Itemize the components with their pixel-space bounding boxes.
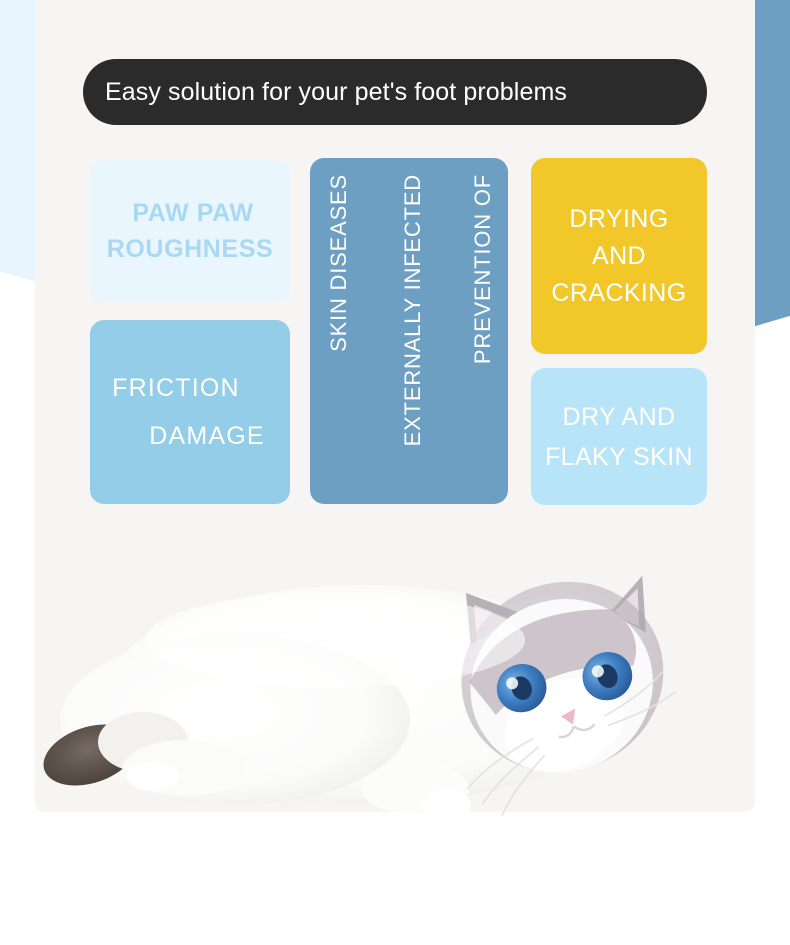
feature-tile-drying-and-cracking: DRYING AND CRACKING bbox=[531, 158, 707, 354]
cat-illustration bbox=[35, 520, 755, 840]
tile-line-vertical: PREVENTION OF bbox=[470, 174, 496, 364]
tile-line: PAW PAW bbox=[132, 197, 253, 229]
tile-line-vertical: EXTERNALLY INFECTED bbox=[400, 174, 426, 446]
headline-pill: Easy solution for your pet's foot proble… bbox=[83, 59, 707, 125]
tile-line: DRYING bbox=[569, 204, 668, 234]
tile-line: CRACKING bbox=[551, 278, 686, 308]
promo-banner: Easy solution for your pet's foot proble… bbox=[0, 0, 790, 945]
feature-tile-prevention-skin-diseases: SKIN DISEASES EXTERNALLY INFECTED PREVEN… bbox=[310, 158, 508, 504]
tile-line: FLAKY SKIN bbox=[545, 442, 693, 472]
tile-line: AND bbox=[592, 241, 646, 271]
feature-tile-dry-and-flaky-skin: DRY AND FLAKY SKIN bbox=[531, 368, 707, 505]
feature-tile-paw-paw-roughness: PAW PAW ROUGHNESS bbox=[90, 160, 290, 302]
tile-line: DRY AND bbox=[562, 402, 675, 432]
tile-line-vertical: SKIN DISEASES bbox=[326, 174, 352, 352]
tile-line: ROUGHNESS bbox=[107, 233, 274, 265]
page-title: Easy solution for your pet's foot proble… bbox=[105, 78, 567, 107]
tile-line: DAMAGE bbox=[149, 421, 265, 451]
tile-line: FRICTION bbox=[112, 373, 240, 403]
cat-photo: Fluffy white Ragdoll cat with blue eyes … bbox=[35, 520, 755, 840]
feature-tile-friction-damage: FRICTION DAMAGE bbox=[90, 320, 290, 504]
